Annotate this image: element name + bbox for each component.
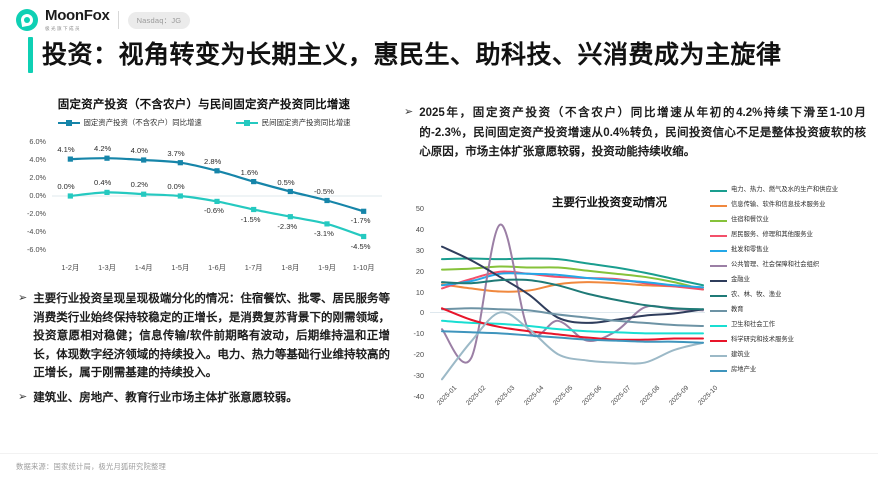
legend-swatch — [710, 325, 727, 327]
left-note-1-text: 主要行业投资呈现呈现极端分化的情况：住宿餐饮、批零、居民服务等消费类行业始终保持… — [33, 290, 390, 383]
legend-label-fixed-asset: 固定资产投资（不含农户）同比增速 — [84, 117, 202, 128]
brand-text: MoonFox 极光旗下成员 — [45, 8, 110, 33]
title-band: 投资：视角转变为长期主义，惠民生、助科技、兴消费成为主旋律 — [0, 32, 878, 78]
left-chart-title: 固定资产投资（不含农户）与民间固定资产投资同比增速 — [18, 96, 390, 112]
right-note-text: 2025年，固定资产投资（不含农户）同比增速从年初的4.2%持续下滑至1-10月… — [419, 104, 866, 163]
right-chart-legend-item[interactable]: 教育 — [710, 306, 870, 319]
bullet-marker-icon: ➢ — [404, 104, 413, 121]
legend-label: 信息传输、软件和信息技术服务业 — [731, 201, 825, 209]
legend-swatch-fixed-asset — [58, 122, 80, 124]
bullet-marker-icon: ➢ — [18, 389, 27, 406]
legend-label: 农、林、牧、渔业 — [731, 291, 781, 299]
right-chart-plot: 50403020100-10-20-30-402025-012025-02202… — [400, 186, 710, 454]
moonfox-logo-icon — [16, 9, 38, 31]
legend-item-fixed-asset: 固定资产投资（不含农户）同比增速 — [58, 117, 202, 128]
legend-label-private: 民间固定资产投资同比增速 — [262, 117, 351, 128]
legend-swatch — [710, 310, 727, 312]
left-chart-plot: 6.0%4.0%2.0%0.0%-2.0%-4.0%-6.0%4.1%4.2%4… — [18, 132, 390, 272]
legend-label: 卫生和社会工作 — [731, 321, 775, 329]
right-chart-legend-item[interactable]: 科学研究和技术服务业 — [710, 336, 870, 349]
right-chart-legend-item[interactable]: 居民服务、修理和其他服务业 — [710, 231, 870, 244]
right-chart-legend-item[interactable]: 房地产业 — [710, 366, 870, 379]
legend-swatch — [710, 265, 727, 267]
right-chart-legend-item[interactable]: 卫生和社会工作 — [710, 321, 870, 334]
legend-swatch-private — [236, 122, 258, 124]
brand-header: MoonFox 极光旗下成员 Nasdaq：JG — [16, 6, 190, 34]
legend-label: 金融业 — [731, 276, 750, 284]
legend-swatch — [710, 280, 727, 282]
right-chart-legend-item[interactable]: 信息传输、软件和信息技术服务业 — [710, 201, 870, 214]
brand-name: MoonFox — [45, 8, 110, 23]
left-chart-legend: 固定资产投资（不含农户）同比增速 民间固定资产投资同比增速 — [18, 117, 390, 128]
legend-swatch — [710, 250, 727, 252]
left-note-2: ➢ 建筑业、房地产、教育行业市场主体扩张意愿较弱。 — [18, 389, 390, 408]
right-chart-legend-item[interactable]: 批发和零售业 — [710, 246, 870, 259]
right-chart-legend-item[interactable]: 金融业 — [710, 276, 870, 289]
legend-label: 教育 — [731, 306, 744, 314]
right-note: ➢ 2025年，固定资产投资（不含农户）同比增速从年初的4.2%持续下滑至1-1… — [404, 104, 866, 163]
right-chart-legend-item[interactable]: 农、林、牧、渔业 — [710, 291, 870, 304]
legend-swatch — [710, 205, 727, 207]
left-note-1: ➢ 主要行业投资呈现呈现极端分化的情况：住宿餐饮、批零、居民服务等消费类行业始终… — [18, 290, 390, 383]
left-panel: 固定资产投资（不含农户）与民间固定资产投资同比增速 固定资产投资（不含农户）同比… — [18, 96, 390, 408]
right-chart-legend: 电力、热力、燃气及水的生产和供应业信息传输、软件和信息技术服务业住宿和餐饮业居民… — [710, 186, 870, 381]
right-chart-legend-item[interactable]: 电力、热力、燃气及水的生产和供应业 — [710, 186, 870, 199]
page-title: 投资：视角转变为长期主义，惠民生、助科技、兴消费成为主旋律 — [42, 40, 782, 70]
title-accent-bar — [28, 37, 33, 73]
legend-label: 住宿和餐饮业 — [731, 216, 769, 224]
legend-label: 电力、热力、燃气及水的生产和供应业 — [731, 186, 838, 194]
right-chart-legend-item[interactable]: 住宿和餐饮业 — [710, 216, 870, 229]
legend-label: 科学研究和技术服务业 — [731, 336, 794, 344]
left-notes: ➢ 主要行业投资呈现呈现极端分化的情况：住宿餐饮、批零、居民服务等消费类行业始终… — [18, 290, 390, 408]
footer-divider — [0, 453, 878, 454]
left-note-2-text: 建筑业、房地产、教育行业市场主体扩张意愿较弱。 — [33, 389, 298, 408]
legend-label: 居民服务、修理和其他服务业 — [731, 231, 813, 239]
brand-divider — [118, 11, 119, 29]
legend-label: 公共管理、社会保障和社会组织 — [731, 261, 819, 269]
legend-swatch — [710, 235, 727, 237]
bullet-marker-icon: ➢ — [18, 290, 27, 307]
legend-label: 房地产业 — [731, 366, 756, 374]
ticker-badge: Nasdaq：JG — [128, 12, 191, 29]
slide-root: MoonFox 极光旗下成员 Nasdaq：JG 投资：视角转变为长期主义，惠民… — [0, 0, 878, 480]
legend-item-private: 民间固定资产投资同比增速 — [236, 117, 351, 128]
legend-swatch — [710, 190, 727, 192]
right-chart: 主要行业投资变动情况 50403020100-10-20-30-402025-0… — [400, 186, 870, 454]
legend-swatch — [710, 355, 727, 357]
legend-label: 建筑业 — [731, 351, 750, 359]
legend-swatch — [710, 340, 727, 342]
source-note: 数据来源：国家统计局，极光月狐研究院整理 — [16, 462, 166, 472]
legend-swatch — [710, 370, 727, 372]
legend-swatch — [710, 295, 727, 297]
right-chart-legend-item[interactable]: 建筑业 — [710, 351, 870, 364]
right-chart-legend-item[interactable]: 公共管理、社会保障和社会组织 — [710, 261, 870, 274]
legend-label: 批发和零售业 — [731, 246, 769, 254]
legend-swatch — [710, 220, 727, 222]
